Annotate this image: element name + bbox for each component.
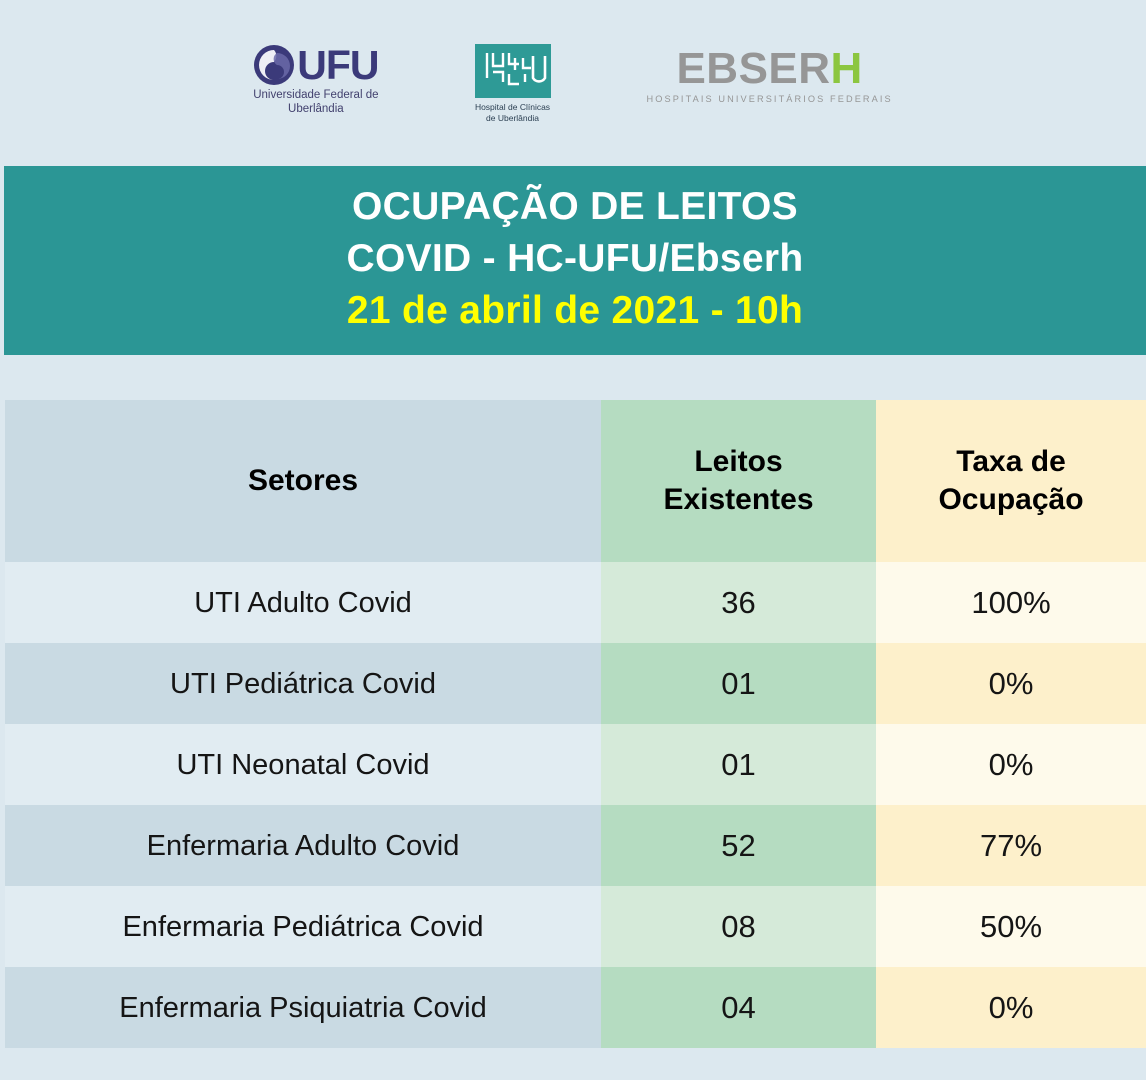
ebserh-wordmark-gray: EBSER — [676, 44, 830, 93]
cell-leitos: 08 — [601, 886, 876, 967]
cell-setor: UTI Pediátrica Covid — [5, 643, 601, 724]
cell-taxa: 77% — [876, 805, 1146, 886]
column-header-taxa-line1: Taxa de — [876, 443, 1146, 481]
cell-leitos: 04 — [601, 967, 876, 1048]
table-header-row: Setores Leitos Existentes Taxa de Ocupaç… — [5, 400, 1146, 562]
column-header-taxa-ocupacao: Taxa de Ocupação — [876, 400, 1146, 562]
ufu-logo: UFU Universidade Federal de Uberlândia — [253, 44, 378, 116]
cell-leitos: 52 — [601, 805, 876, 886]
ufu-subtitle: Universidade Federal de Uberlândia — [253, 89, 378, 116]
ufu-wordmark-row: UFU — [253, 44, 378, 86]
cell-taxa: 50% — [876, 886, 1146, 967]
cell-setor: Enfermaria Psiquiatria Covid — [5, 967, 601, 1048]
cell-taxa: 0% — [876, 724, 1146, 805]
logo-bar: UFU Universidade Federal de Uberlândia — [0, 0, 1146, 166]
cell-setor: Enfermaria Pediátrica Covid — [5, 886, 601, 967]
ufu-subtitle-line2: Uberlândia — [253, 103, 378, 117]
hc-logo: Hospital de Clínicas de Uberlândia — [475, 44, 551, 123]
hc-subtitle: Hospital de Clínicas de Uberlândia — [475, 102, 550, 123]
table-row: Enfermaria Psiquiatria Covid 04 0% — [5, 967, 1146, 1048]
column-header-leitos-line1: Leitos — [601, 443, 876, 481]
banner-title-line1: OCUPAÇÃO DE LEITOS — [352, 181, 798, 233]
table-body: UTI Adulto Covid 36 100% UTI Pediátrica … — [5, 562, 1146, 1048]
hc-subtitle-line2: de Uberlândia — [475, 113, 550, 124]
table-row: Enfermaria Adulto Covid 52 77% — [5, 805, 1146, 886]
ufu-swirl-icon — [253, 44, 295, 86]
table-row: Enfermaria Pediátrica Covid 08 50% — [5, 886, 1146, 967]
banner-table-spacer — [0, 355, 1146, 400]
cell-leitos: 01 — [601, 643, 876, 724]
cell-leitos: 01 — [601, 724, 876, 805]
cell-taxa: 0% — [876, 967, 1146, 1048]
ufu-wordmark: UFU — [297, 44, 378, 86]
ebserh-logo: EBSERH HOSPITAIS UNIVERSITÁRIOS FEDERAIS — [647, 44, 893, 104]
table-row: UTI Adulto Covid 36 100% — [5, 562, 1146, 643]
column-header-leitos-existentes: Leitos Existentes — [601, 400, 876, 562]
ebserh-wordmark: EBSERH — [676, 46, 862, 92]
cell-leitos: 36 — [601, 562, 876, 643]
table-row: UTI Pediátrica Covid 01 0% — [5, 643, 1146, 724]
table-row: UTI Neonatal Covid 01 0% — [5, 724, 1146, 805]
column-header-taxa-line2: Ocupação — [876, 481, 1146, 519]
hc-subtitle-line1: Hospital de Clínicas — [475, 102, 550, 113]
cell-taxa: 100% — [876, 562, 1146, 643]
ufu-subtitle-line1: Universidade Federal de — [253, 89, 378, 103]
banner-date-line: 21 de abril de 2021 - 10h — [347, 285, 803, 337]
cell-setor: Enfermaria Adulto Covid — [5, 805, 601, 886]
cell-taxa: 0% — [876, 643, 1146, 724]
column-header-leitos-line2: Existentes — [601, 481, 876, 519]
column-header-setores: Setores — [5, 400, 601, 562]
ebserh-wordmark-green: H — [831, 44, 863, 93]
ebserh-subtitle: HOSPITAIS UNIVERSITÁRIOS FEDERAIS — [647, 94, 893, 104]
occupancy-table: Setores Leitos Existentes Taxa de Ocupaç… — [5, 400, 1146, 1048]
banner-title-line2: COVID - HC-UFU/Ebserh — [347, 233, 804, 285]
title-banner: OCUPAÇÃO DE LEITOS COVID - HC-UFU/Ebserh… — [4, 166, 1146, 355]
cell-setor: UTI Neonatal Covid — [5, 724, 601, 805]
hc-hu-monogram-icon — [475, 44, 551, 98]
cell-setor: UTI Adulto Covid — [5, 562, 601, 643]
